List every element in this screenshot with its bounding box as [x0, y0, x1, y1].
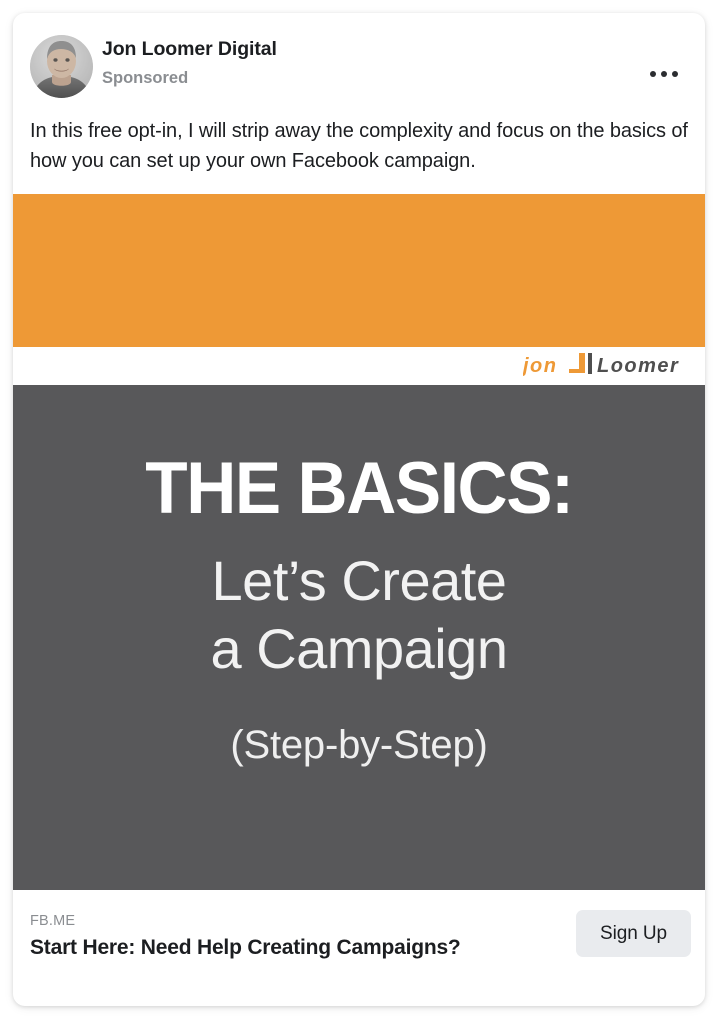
- jon-loomer-logo: jon Loomer: [523, 350, 689, 380]
- ad-body-paragraph: In this free opt-in, I will strip away t…: [30, 116, 688, 176]
- sign-up-button[interactable]: Sign Up: [576, 910, 691, 957]
- creative-orange-band: [13, 194, 705, 347]
- ad-creative-image[interactable]: jon Loomer THE BASICS: Let’s Create a Ca…: [13, 194, 705, 890]
- creative-subtitle: Let’s Create a Campaign: [13, 526, 705, 683]
- ad-footer: FB.ME Start Here: Need Help Creating Cam…: [13, 890, 705, 986]
- more-options-ellipsis-icon[interactable]: [644, 63, 684, 85]
- logo-text-jon: jon: [523, 355, 558, 377]
- profile-photo-avatar: [30, 35, 93, 98]
- creative-subtitle-line-2: a Campaign: [13, 615, 705, 683]
- logo-text-loomer: Loomer: [597, 355, 679, 377]
- sponsored-ad-card: Jon Loomer Digital Sponsored In this fre…: [13, 13, 705, 1006]
- creative-note: (Step-by-Step): [13, 683, 705, 769]
- creative-dark-panel: THE BASICS: Let’s Create a Campaign (Ste…: [13, 385, 705, 890]
- ellipsis-dot: [661, 71, 667, 77]
- ad-header: Jon Loomer Digital Sponsored: [13, 13, 705, 116]
- ellipsis-dot: [650, 71, 656, 77]
- page-name[interactable]: Jon Loomer Digital: [102, 37, 277, 61]
- ellipsis-dot: [672, 71, 678, 77]
- avatar[interactable]: [30, 35, 93, 98]
- creative-subtitle-line-1: Let’s Create: [13, 547, 705, 615]
- creative-logo-bar: jon Loomer: [13, 347, 705, 385]
- ad-body-text: In this free opt-in, I will strip away t…: [13, 116, 705, 176]
- creative-title: THE BASICS:: [30, 385, 687, 526]
- sponsored-label: Sponsored: [102, 67, 277, 89]
- header-text-block: Jon Loomer Digital Sponsored: [102, 37, 277, 89]
